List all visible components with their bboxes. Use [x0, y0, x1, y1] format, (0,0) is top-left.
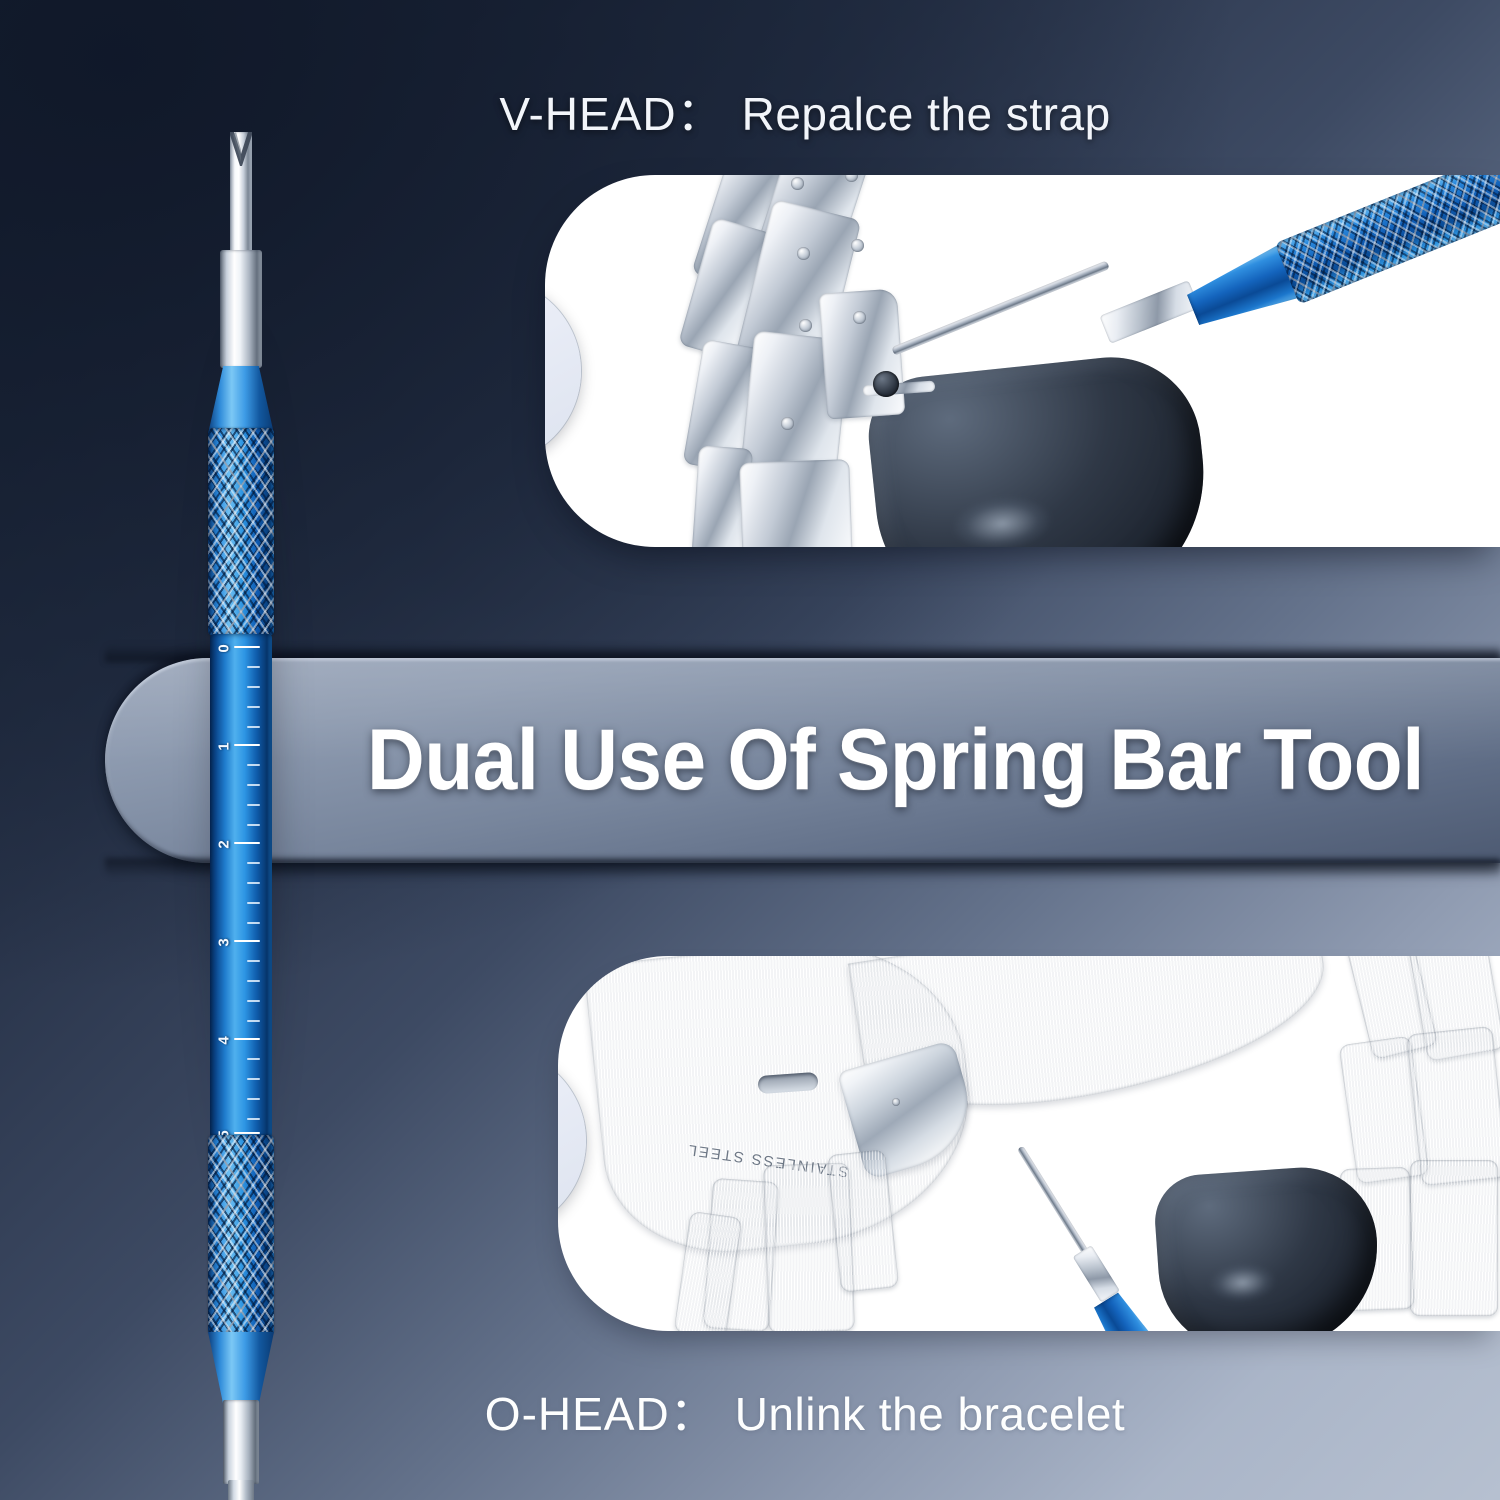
ruler-tick-major — [234, 842, 260, 844]
ruler-label: 3 — [216, 938, 233, 946]
ruler-tick-minor — [247, 726, 260, 728]
top-caption-text: Repalce the strap — [742, 88, 1111, 140]
ruler-tick-minor — [247, 784, 260, 786]
ruler-tick-major — [234, 940, 260, 942]
ruler-tick-major — [234, 1038, 260, 1040]
ruler-tick-minor — [247, 1020, 260, 1022]
main-title: Dual Use Of Spring Bar Tool — [154, 658, 1451, 863]
bottom-caption-lead: O-HEAD： — [485, 1388, 717, 1440]
v-head-notch-icon — [230, 132, 252, 168]
v-head-tip-inset — [545, 278, 581, 464]
top-caption-lead: V-HEAD： — [499, 88, 723, 140]
ruler-tick-minor — [247, 862, 260, 864]
ruler-tick-minor — [247, 764, 260, 766]
ruler-tick-minor — [247, 902, 260, 904]
bracelet-rivet — [791, 177, 804, 190]
ruler-label: 1 — [216, 742, 233, 750]
ruler-label: 0 — [216, 644, 233, 652]
ruler-tick-minor — [247, 1058, 260, 1060]
ruler-tick-minor — [247, 686, 260, 688]
ruler-tick-major — [234, 646, 260, 648]
ruler-tick-minor — [247, 1000, 260, 1002]
ruler-tick-minor — [247, 980, 260, 982]
v-head-collar — [220, 250, 262, 368]
knurled-grip-top — [208, 428, 274, 636]
bracelet-rivet — [853, 311, 866, 324]
product-infographic: V-HEAD：Repalce the strap — [0, 0, 1500, 1500]
ruler-tick-minor — [247, 804, 260, 806]
ruler-tick-minor — [247, 1118, 260, 1120]
lug-pivot — [873, 371, 899, 397]
replace-strap-photo-panel — [545, 175, 1500, 547]
ruler-tick-minor — [247, 824, 260, 826]
knurled-grip-bottom — [208, 1135, 274, 1335]
bottom-caption-text: Unlink the bracelet — [735, 1388, 1125, 1440]
tool-knurled-grip — [1275, 175, 1500, 305]
bracelet-rivet — [799, 319, 812, 332]
ruler-label: 4 — [216, 1036, 233, 1044]
ruler-tick-minor — [247, 960, 260, 962]
o-head-shoulder — [228, 1480, 254, 1500]
tool-pin-shaft — [1017, 1146, 1090, 1257]
bottom-caption: O-HEAD：Unlink the bracelet — [55, 1378, 1500, 1444]
tool-tip-shaft — [891, 260, 1109, 355]
bracelet-link — [819, 288, 906, 419]
bracelet-link — [739, 459, 853, 547]
ruler-tick-minor — [247, 1078, 260, 1080]
unlink-bracelet-photo-panel: STAINLESS STEEL — [558, 956, 1500, 1331]
o-head-tip-inset — [558, 1048, 586, 1234]
ruler-label: 2 — [216, 840, 233, 848]
spring-bar-tool: 0 1 2 3 4 — [186, 110, 296, 1420]
bracelet-link — [1410, 1160, 1498, 1316]
ruler-tick-minor — [247, 922, 260, 924]
ruler-tick-major — [234, 744, 260, 746]
ruler-tick-major — [234, 1132, 260, 1134]
tool-ferrule — [1073, 1245, 1120, 1302]
ruler-tick-minor — [247, 706, 260, 708]
bracelet-rivet — [851, 239, 864, 252]
ruler-tick-minor — [247, 882, 260, 884]
watch-case-dark — [1152, 1163, 1384, 1331]
bracelet-rivet — [781, 417, 794, 430]
ruler-tick-minor — [247, 666, 260, 668]
handle-cone-top — [208, 366, 274, 434]
bracelet-rivet — [892, 1098, 900, 1106]
ruler-tick-minor — [247, 1098, 260, 1100]
ruler-scale: 0 1 2 3 4 — [224, 642, 260, 1134]
bracelet-rivet — [797, 247, 810, 260]
watch-case — [863, 348, 1217, 547]
tool-ferrule — [1099, 280, 1199, 344]
